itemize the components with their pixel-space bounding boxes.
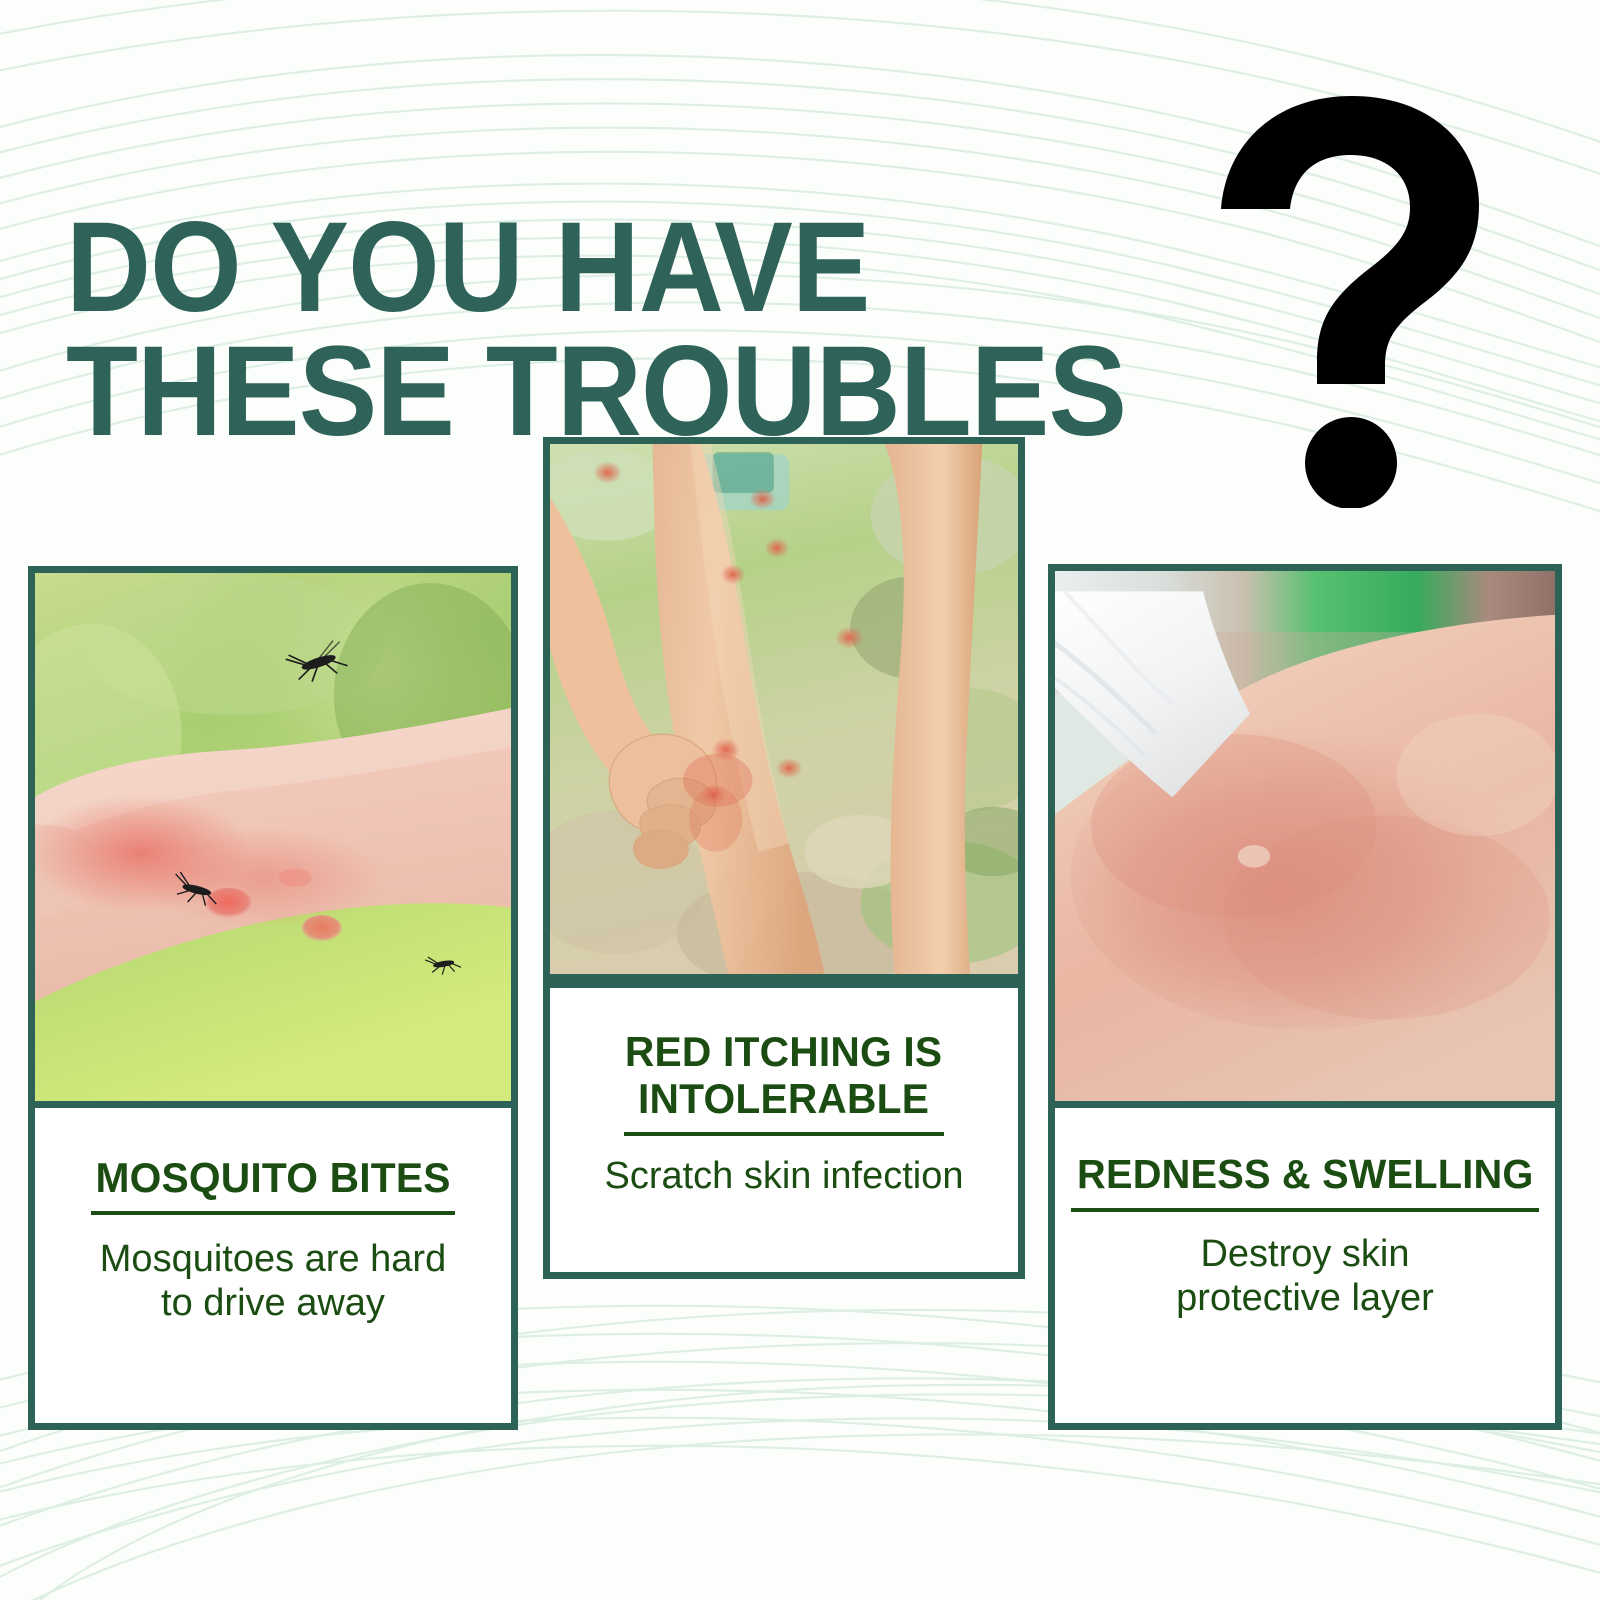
poster-canvas: DO YOU HAVE THESE TROUBLES: [0, 0, 1600, 1600]
card-photo-frame: [28, 566, 518, 1108]
card-subtitle: Destroy skin protective layer: [1176, 1232, 1434, 1320]
trouble-card-mosquito-bites: MOSQUITO BITES Mosquitoes are hard to dr…: [28, 566, 518, 1430]
card-subtitle: Scratch skin infection: [604, 1154, 963, 1198]
card-text-frame: MOSQUITO BITES Mosquitoes are hard to dr…: [28, 1108, 518, 1430]
trouble-card-redness-swelling: REDNESS & SWELLING Destroy skin protecti…: [1048, 564, 1562, 1430]
card-title: REDNESS & SWELLING: [1077, 1152, 1533, 1198]
card-text-frame: REDNESS & SWELLING Destroy skin protecti…: [1048, 1108, 1562, 1430]
card-photo-frame: [1048, 564, 1562, 1108]
photo-red-itching: [550, 444, 1018, 974]
trouble-card-red-itching: RED ITCHING IS INTOLERABLE Scratch skin …: [543, 437, 1025, 1279]
title-underline: [91, 1211, 455, 1215]
card-photo-frame: [543, 437, 1025, 981]
card-subtitle: Mosquitoes are hard to drive away: [100, 1237, 446, 1325]
title-underline: [624, 1132, 944, 1136]
card-title: RED ITCHING IS INTOLERABLE: [625, 1028, 942, 1122]
photo-mosquito-bites: [35, 573, 511, 1101]
question-mark-icon: [1213, 88, 1493, 508]
card-title: MOSQUITO BITES: [95, 1154, 450, 1201]
title-underline: [1071, 1208, 1539, 1212]
card-text-frame: RED ITCHING IS INTOLERABLE Scratch skin …: [543, 981, 1025, 1279]
headline-line-1: DO YOU HAVE: [66, 196, 869, 339]
photo-redness-swelling: [1055, 571, 1555, 1101]
headline-line-2: THESE TROUBLES: [66, 330, 1152, 454]
